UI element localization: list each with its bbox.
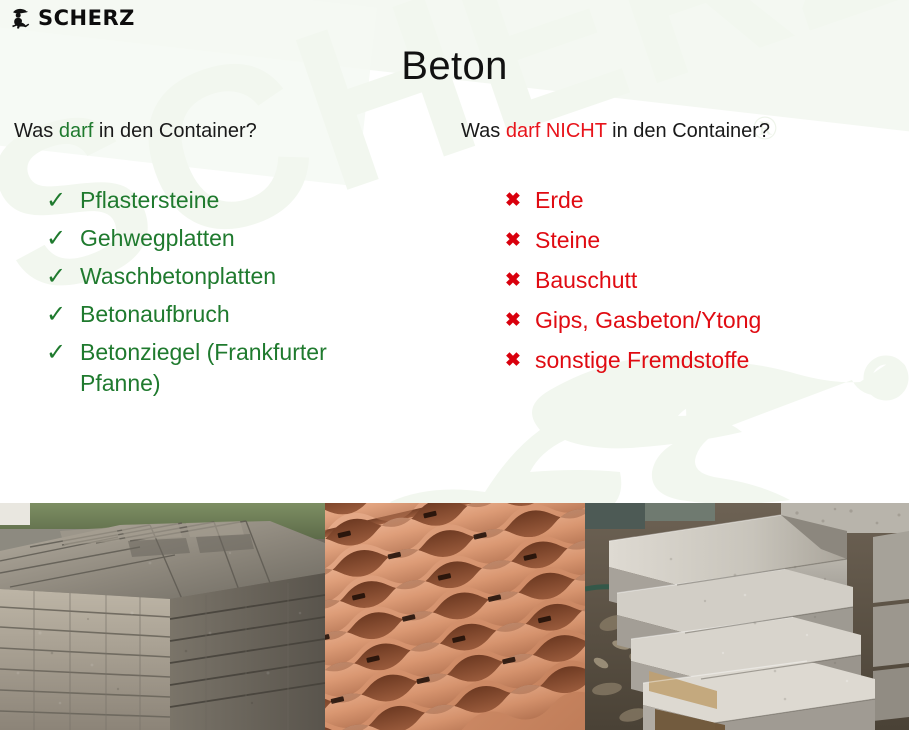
list-item-label: Betonziegel (Frankfurter Pfanne) bbox=[80, 337, 380, 399]
list-item: ✓ Pflastersteine bbox=[46, 185, 444, 216]
check-icon: ✓ bbox=[46, 299, 80, 330]
list-item-label: sonstige Fremdstoffe bbox=[535, 345, 749, 376]
cross-icon: ✖ bbox=[505, 345, 535, 376]
cross-icon: ✖ bbox=[505, 185, 535, 216]
list-item-label: Gips, Gasbeton/Ytong bbox=[535, 305, 761, 336]
heading-prefix: Was bbox=[461, 120, 506, 142]
slide-beton: SCHERZ ® SCHERZ bbox=[0, 0, 909, 730]
cross-icon: ✖ bbox=[505, 305, 535, 336]
cross-icon: ✖ bbox=[505, 225, 535, 256]
column-forbidden: Was darf NICHT in den Container? ✖ Erde … bbox=[461, 120, 901, 385]
heading-suffix: in den Container? bbox=[607, 120, 770, 142]
photo-stacked-concrete-kerbstones bbox=[585, 503, 909, 730]
column-allowed-heading: Was darf in den Container? bbox=[14, 120, 444, 143]
photo-strip bbox=[0, 503, 909, 730]
allowed-item-list: ✓ Pflastersteine ✓ Gehwegplatten ✓ Wasch… bbox=[46, 185, 444, 399]
list-item: ✓ Betonaufbruch bbox=[46, 299, 444, 330]
list-item: ✖ Erde bbox=[505, 185, 901, 216]
heading-highlight-darf-nicht: darf NICHT bbox=[506, 120, 607, 142]
check-icon: ✓ bbox=[46, 223, 80, 254]
list-item-label: Erde bbox=[535, 185, 584, 216]
brand-logo-text: SCHERZ bbox=[38, 8, 135, 29]
list-item: ✓ Betonziegel (Frankfurter Pfanne) bbox=[46, 337, 444, 399]
check-icon: ✓ bbox=[46, 337, 80, 368]
brand-logo[interactable]: SCHERZ bbox=[8, 5, 135, 31]
page-title: Beton bbox=[0, 44, 909, 89]
list-item: ✖ Steine bbox=[505, 225, 901, 256]
list-item-label: Gehwegplatten bbox=[80, 223, 235, 254]
scherz-mascot-icon bbox=[8, 5, 34, 31]
list-item-label: Waschbetonplatten bbox=[80, 261, 276, 292]
list-item: ✖ Gips, Gasbeton/Ytong bbox=[505, 305, 901, 336]
list-item-label: Steine bbox=[535, 225, 600, 256]
cross-icon: ✖ bbox=[505, 265, 535, 296]
heading-suffix: in den Container? bbox=[93, 120, 256, 142]
list-item: ✖ Bauschutt bbox=[505, 265, 901, 296]
heading-highlight-darf: darf bbox=[59, 120, 93, 142]
photo-stacked-grey-paving-stones bbox=[0, 503, 325, 730]
list-item-label: Betonaufbruch bbox=[80, 299, 230, 330]
list-item-label: Bauschutt bbox=[535, 265, 637, 296]
photo-terracotta-roof-tiles bbox=[325, 503, 585, 730]
list-item: ✖ sonstige Fremdstoffe bbox=[505, 345, 901, 376]
forbidden-item-list: ✖ Erde ✖ Steine ✖ Bauschutt ✖ Gips, Gasb… bbox=[505, 185, 901, 376]
list-item-label: Pflastersteine bbox=[80, 185, 219, 216]
list-item: ✓ Waschbetonplatten bbox=[46, 261, 444, 292]
list-item: ✓ Gehwegplatten bbox=[46, 223, 444, 254]
heading-prefix: Was bbox=[14, 120, 59, 142]
column-forbidden-heading: Was darf NICHT in den Container? bbox=[461, 120, 901, 143]
column-allowed: Was darf in den Container? ✓ Pflasterste… bbox=[14, 120, 444, 406]
check-icon: ✓ bbox=[46, 185, 80, 216]
check-icon: ✓ bbox=[46, 261, 80, 292]
